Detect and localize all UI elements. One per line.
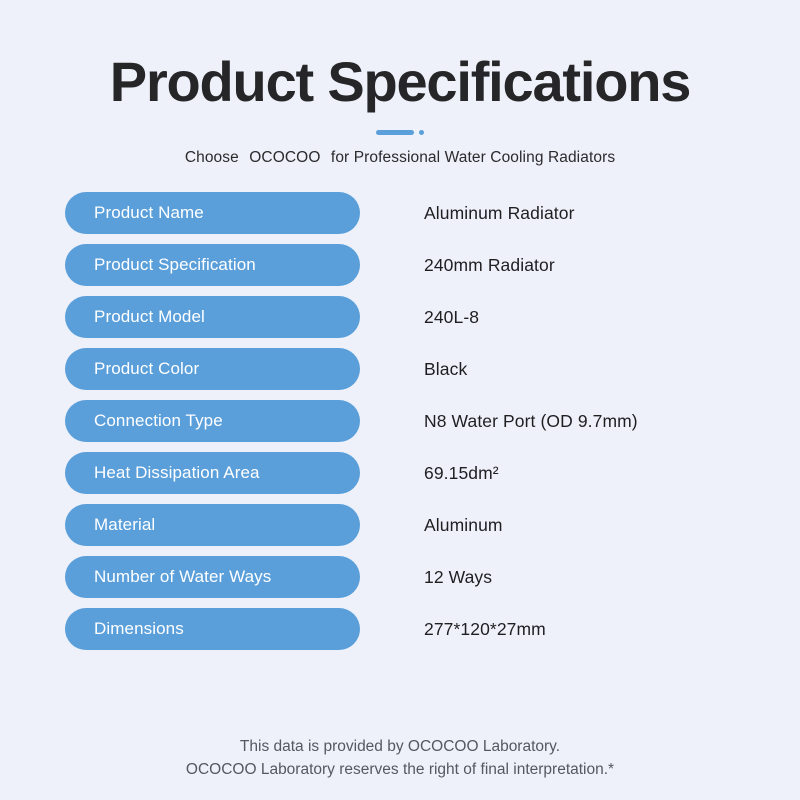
table-row: Heat Dissipation Area 69.15dm² [65,452,800,494]
divider-dot-icon [419,130,424,135]
spec-label-product-model: Product Model [65,296,360,338]
spec-value-dimensions: 277*120*27mm [424,619,546,640]
spec-label-material: Material [65,504,360,546]
table-row: Connection Type N8 Water Port (OD 9.7mm) [65,400,800,442]
spec-value-product-color: Black [424,359,467,380]
table-row: Dimensions 277*120*27mm [65,608,800,650]
subtitle-brand: OCOCOO [243,149,326,166]
subtitle: Choose OCOCOO for Professional Water Coo… [0,149,800,167]
spec-value-product-model: 240L-8 [424,307,479,328]
spec-value-number-of-water-ways: 12 Ways [424,567,492,588]
spec-label-product-color: Product Color [65,348,360,390]
table-row: Product Name Aluminum Radiator [65,192,800,234]
product-spec-page: Product Specifications Choose OCOCOO for… [0,0,800,800]
spec-label-connection-type: Connection Type [65,400,360,442]
spec-label-product-name: Product Name [65,192,360,234]
table-row: Product Specification 240mm Radiator [65,244,800,286]
divider-bar-icon [376,130,414,135]
spec-value-material: Aluminum [424,515,503,536]
subtitle-suffix: for Professional Water Cooling Radiators [331,149,615,166]
spec-label-product-specification: Product Specification [65,244,360,286]
spec-label-dimensions: Dimensions [65,608,360,650]
footer-disclaimer: This data is provided by OCOCOO Laborato… [0,735,800,800]
footer-line-2: OCOCOO Laboratory reserves the right of … [0,758,800,782]
table-row: Material Aluminum [65,504,800,546]
page-title: Product Specifications [0,52,800,112]
spec-label-heat-dissipation-area: Heat Dissipation Area [65,452,360,494]
spec-label-number-of-water-ways: Number of Water Ways [65,556,360,598]
header: Product Specifications Choose OCOCOO for… [0,0,800,167]
footer-line-1: This data is provided by OCOCOO Laborato… [0,735,800,759]
spec-value-heat-dissipation-area: 69.15dm² [424,463,499,484]
spec-value-product-name: Aluminum Radiator [424,203,575,224]
table-row: Product Model 240L-8 [65,296,800,338]
table-row: Number of Water Ways 12 Ways [65,556,800,598]
title-divider [0,128,800,136]
table-row: Product Color Black [65,348,800,390]
spec-value-product-specification: 240mm Radiator [424,255,555,276]
spec-value-connection-type: N8 Water Port (OD 9.7mm) [424,411,638,432]
subtitle-prefix: Choose [185,149,239,166]
specifications-table: Product Name Aluminum Radiator Product S… [0,192,800,650]
